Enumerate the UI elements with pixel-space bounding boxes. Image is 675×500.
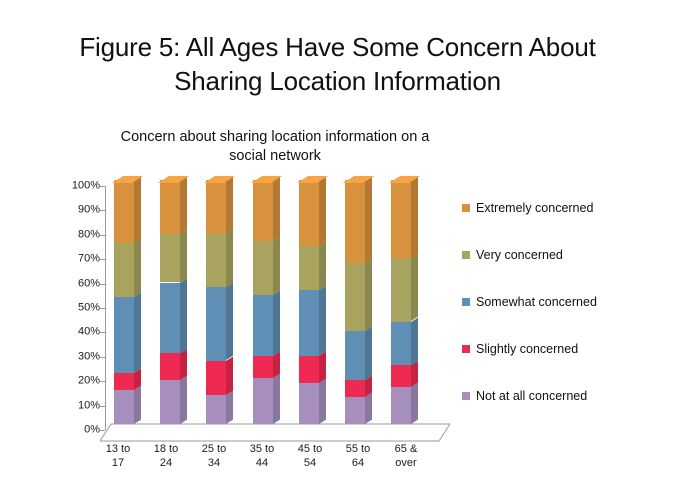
bar-segment-face xyxy=(253,356,273,378)
y-axis-tick-mark xyxy=(100,406,105,407)
bar-segment[interactable] xyxy=(299,383,319,424)
bar-stack xyxy=(345,180,365,424)
bar-segment-side-3d xyxy=(319,285,326,355)
bar-segment[interactable] xyxy=(160,234,180,283)
y-axis-tick-mark xyxy=(100,381,105,382)
bar-segment-side-3d xyxy=(365,176,372,263)
legend-item[interactable]: Slightly concerned xyxy=(462,341,578,357)
y-axis-tick-label: 70% xyxy=(50,254,100,265)
bar-segment-side-3d xyxy=(411,317,418,365)
x-axis-tick-label-line-1: 25 to xyxy=(202,443,226,455)
chart: Concern about sharing location informati… xyxy=(0,120,675,500)
y-axis-tick-label: 0% xyxy=(50,425,100,436)
x-axis-tick-label-line-1: 35 to xyxy=(250,443,274,455)
bar-segment[interactable] xyxy=(114,180,134,243)
bar-segment-face xyxy=(299,356,319,383)
bar-segment-face xyxy=(160,353,180,380)
x-axis-tick-label-line-1: 55 to xyxy=(346,443,370,455)
y-axis-tick-mark xyxy=(100,259,105,260)
bar-segment-face xyxy=(206,395,226,424)
legend-item[interactable]: Somewhat concerned xyxy=(462,294,597,310)
bar-segment-side-3d xyxy=(365,327,372,380)
bar-segment-side-3d xyxy=(180,376,187,424)
bar-stack xyxy=(391,180,411,424)
y-axis-tick-label: 30% xyxy=(50,351,100,362)
bar-segment-side-3d xyxy=(226,390,233,424)
bar-segment-face xyxy=(206,287,226,360)
bar-segment[interactable] xyxy=(114,373,134,390)
bar-segment-face xyxy=(299,180,319,246)
y-axis-line xyxy=(105,186,106,430)
y-axis-tick-label: 80% xyxy=(50,229,100,240)
bar-segment-side-3d xyxy=(319,378,326,424)
bar-segment-face xyxy=(114,243,134,297)
bar-segment-face xyxy=(253,241,273,295)
bar-stack xyxy=(253,180,273,424)
y-axis-tick-mark xyxy=(100,308,105,309)
bar-segment-side-3d xyxy=(180,278,187,353)
bar-segment[interactable] xyxy=(345,380,365,397)
bar-segment[interactable] xyxy=(391,258,411,321)
legend-label: Extremely concerned xyxy=(476,201,593,215)
bar-segment-side-3d xyxy=(134,385,141,424)
bar-segment-face xyxy=(299,246,319,290)
bar-segment-side-3d xyxy=(273,373,280,424)
bar-segment[interactable] xyxy=(391,387,411,424)
bar-segment[interactable] xyxy=(206,287,226,360)
bar-group[interactable] xyxy=(160,180,187,424)
y-axis-tick-labels: 0%10%20%30%40%50%60%70%80%90%100% xyxy=(50,180,100,436)
bar-segment-face xyxy=(391,387,411,424)
bar-segment-side-3d xyxy=(180,176,187,234)
legend-swatch xyxy=(462,204,470,212)
bar-segment-side-3d xyxy=(273,176,280,241)
x-axis-tick-label-line-1: 65 & xyxy=(395,443,418,455)
x-axis-tick-label-line-1: 45 to xyxy=(298,443,322,455)
bar-segment-face xyxy=(299,290,319,356)
bar-segment-side-3d xyxy=(134,176,141,244)
bar-segment-face xyxy=(206,180,226,234)
legend-item[interactable]: Extremely concerned xyxy=(462,200,593,216)
bar-segment[interactable] xyxy=(391,365,411,387)
bar-segment-face xyxy=(114,297,134,373)
bar-segment-face xyxy=(391,322,411,366)
bar-segment[interactable] xyxy=(299,290,319,356)
bar-stack xyxy=(160,180,180,424)
bar-segment[interactable] xyxy=(114,390,134,424)
bar-segment[interactable] xyxy=(391,180,411,258)
bar-stack xyxy=(114,180,134,424)
bar-segment[interactable] xyxy=(160,380,180,424)
bars-container xyxy=(110,174,455,436)
legend-swatch xyxy=(462,251,470,259)
bar-segment-face xyxy=(299,383,319,424)
page-title: Figure 5: All Ages Have Some Concern Abo… xyxy=(0,30,675,98)
bar-segment-side-3d xyxy=(180,229,187,282)
bar-stack xyxy=(299,180,319,424)
legend-label: Slightly concerned xyxy=(476,342,578,356)
legend-label: Not at all concerned xyxy=(476,389,587,403)
bar-segment-side-3d xyxy=(411,383,418,424)
y-axis-tick-mark xyxy=(100,284,105,285)
bar-segment-side-3d xyxy=(319,242,326,290)
page-title-line-2: Sharing Location Information xyxy=(0,64,675,98)
bar-group[interactable] xyxy=(114,180,141,424)
x-axis-tick-label-line-1: 18 to xyxy=(154,443,178,455)
bar-segment-face xyxy=(345,263,365,331)
bar-segment-face xyxy=(160,180,180,234)
x-axis-tick-label-line-2: over xyxy=(378,456,434,470)
bar-segment[interactable] xyxy=(160,353,180,380)
x-axis-tick-labels: 13 to1718 to2425 to3435 to4445 to5455 to… xyxy=(100,442,460,486)
legend-label: Somewhat concerned xyxy=(476,295,597,309)
bar-segment-face xyxy=(114,390,134,424)
bar-segment-side-3d xyxy=(319,176,326,246)
bar-segment[interactable] xyxy=(299,180,319,246)
bar-segment-side-3d xyxy=(226,283,233,361)
bar-segment[interactable] xyxy=(391,322,411,366)
y-axis-tick-mark xyxy=(100,235,105,236)
bar-segment[interactable] xyxy=(345,263,365,331)
bar-segment-side-3d xyxy=(134,239,141,297)
y-axis-tick-label: 20% xyxy=(50,376,100,387)
bar-segment[interactable] xyxy=(206,361,226,395)
bar-segment[interactable] xyxy=(345,180,365,263)
bar-segment-face xyxy=(160,234,180,283)
bar-group[interactable] xyxy=(206,180,233,424)
x-axis-tick-label-line-1: 13 to xyxy=(106,443,130,455)
y-axis-tick-label: 50% xyxy=(50,303,100,314)
y-axis-tick-label: 40% xyxy=(50,327,100,338)
bar-segment-face xyxy=(253,378,273,424)
bar-segment-face xyxy=(114,180,134,243)
bar-segment-face xyxy=(391,258,411,321)
bar-segment-face xyxy=(253,295,273,356)
bar-segment-side-3d xyxy=(134,293,141,373)
page-title-line-1: Figure 5: All Ages Have Some Concern Abo… xyxy=(0,30,675,64)
bar-segment-face xyxy=(114,373,134,390)
x-axis-tick-label: 65 &over xyxy=(378,442,434,470)
bar-segment[interactable] xyxy=(253,378,273,424)
bar-segment-face xyxy=(345,331,365,380)
y-axis-tick-label: 100% xyxy=(50,181,100,192)
bar-segment-side-3d xyxy=(319,351,326,382)
bar-group[interactable] xyxy=(299,180,326,424)
bar-segment[interactable] xyxy=(160,180,180,234)
y-axis-tick-label: 10% xyxy=(50,400,100,411)
bar-segment[interactable] xyxy=(299,246,319,290)
bar-segment-side-3d xyxy=(365,393,372,424)
bar-segment-side-3d xyxy=(411,254,418,322)
bar-segment-face xyxy=(345,180,365,263)
y-axis-tick-mark xyxy=(100,332,105,333)
bar-segment-face xyxy=(391,365,411,387)
bar-segment-face xyxy=(253,180,273,241)
bar-group[interactable] xyxy=(345,180,372,424)
bar-group[interactable] xyxy=(391,180,418,424)
bar-segment[interactable] xyxy=(253,356,273,378)
y-axis-tick-label: 90% xyxy=(50,205,100,216)
bar-segment-side-3d xyxy=(273,237,280,295)
bar-segment[interactable] xyxy=(253,295,273,356)
bar-segment-face xyxy=(206,361,226,395)
legend-swatch xyxy=(462,298,470,306)
legend-label: Very concerned xyxy=(476,248,563,262)
bar-segment-face xyxy=(345,397,365,424)
bar-segment-side-3d xyxy=(411,176,418,258)
bar-segment-side-3d xyxy=(226,356,233,395)
bar-segment[interactable] xyxy=(299,356,319,383)
bar-segment[interactable] xyxy=(206,234,226,288)
bar-segment[interactable] xyxy=(206,395,226,424)
bar-segment[interactable] xyxy=(345,397,365,424)
bar-segment-side-3d xyxy=(273,290,280,355)
bar-segment[interactable] xyxy=(114,297,134,373)
legend-swatch xyxy=(462,345,470,353)
bar-segment-face xyxy=(206,234,226,288)
y-axis-tick-label: 60% xyxy=(50,278,100,289)
y-axis-tick-mark xyxy=(100,210,105,211)
bar-segment-face xyxy=(391,180,411,258)
bar-stack xyxy=(206,180,226,424)
bar-segment-side-3d xyxy=(365,259,372,332)
legend-swatch xyxy=(462,392,470,400)
bar-segment[interactable] xyxy=(206,180,226,234)
plot-area: 0%10%20%30%40%50%60%70%80%90%100% 13 to1… xyxy=(0,120,470,500)
bar-segment[interactable] xyxy=(160,283,180,354)
legend-item[interactable]: Very concerned xyxy=(462,247,563,263)
bar-segment-face xyxy=(160,380,180,424)
bar-segment[interactable] xyxy=(114,243,134,297)
bar-segment-face xyxy=(160,283,180,354)
y-axis-tick-mark xyxy=(100,186,105,187)
bar-segment-side-3d xyxy=(180,349,187,380)
bar-segment-face xyxy=(345,380,365,397)
bar-segment[interactable] xyxy=(345,331,365,380)
bar-segment[interactable] xyxy=(253,180,273,241)
bar-group[interactable] xyxy=(253,180,280,424)
legend-item[interactable]: Not at all concerned xyxy=(462,388,587,404)
bar-segment-side-3d xyxy=(226,229,233,287)
y-axis-tick-mark xyxy=(100,357,105,358)
bar-segment[interactable] xyxy=(253,241,273,295)
bar-segment-side-3d xyxy=(226,176,233,234)
